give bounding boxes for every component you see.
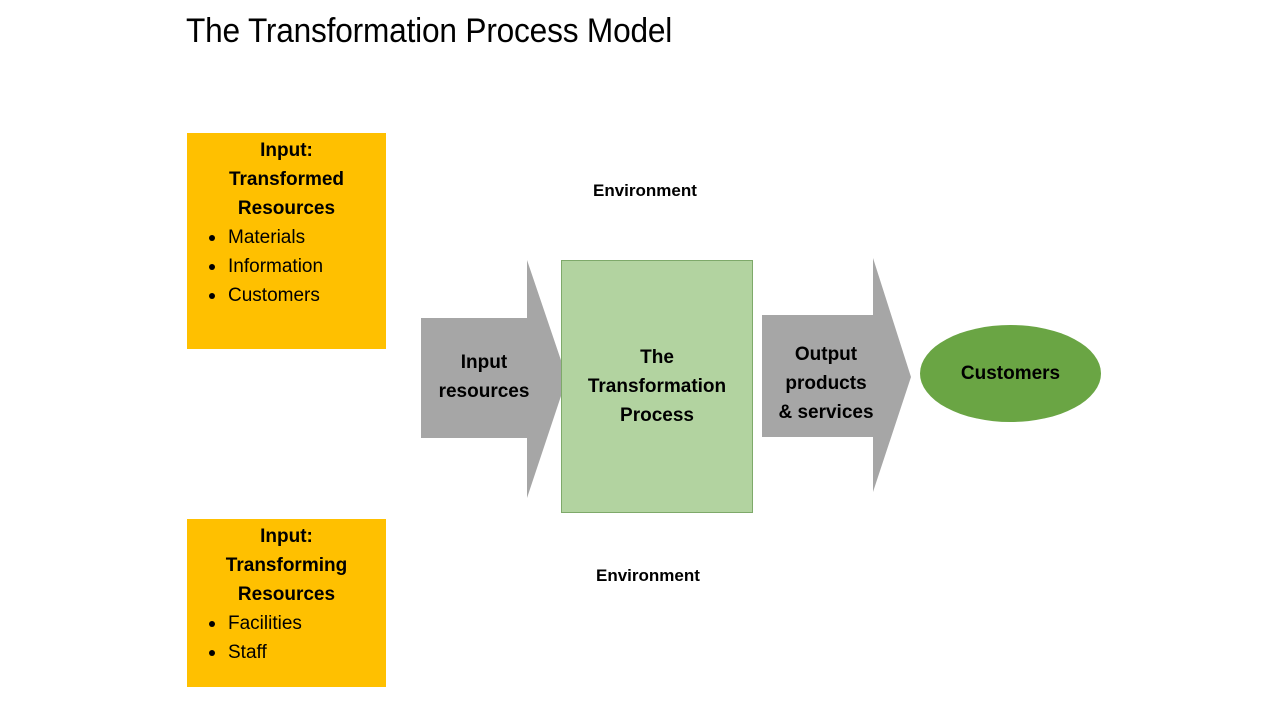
input-box-transforming-list: Facilities Staff: [187, 609, 386, 667]
input-box-transformed-resources: Input: Transformed Resources Materials I…: [187, 133, 386, 349]
customers-ellipse: Customers: [920, 325, 1101, 422]
list-item: Staff: [207, 638, 386, 667]
transformation-process-box: The Transformation Process: [561, 260, 753, 513]
list-item: Facilities: [207, 609, 386, 638]
list-item: Materials: [207, 223, 386, 252]
transformation-process-label: The Transformation Process: [588, 343, 726, 430]
input-box-transformed-list: Materials Information Customers: [187, 223, 386, 310]
page-title: The Transformation Process Model: [186, 8, 672, 54]
list-item: Information: [207, 252, 386, 281]
input-box-transforming-resources: Input: Transforming Resources Facilities…: [187, 519, 386, 687]
output-arrow-label: Output products & services: [764, 340, 888, 427]
list-item: Customers: [207, 281, 386, 310]
input-box-transforming-heading: Input: Transforming Resources: [187, 519, 386, 609]
input-box-transformed-heading: Input: Transformed Resources: [187, 133, 386, 223]
customers-label: Customers: [961, 362, 1060, 386]
input-arrow-label: Input resources: [424, 348, 544, 406]
environment-label-top: Environment: [593, 180, 697, 202]
environment-label-bottom: Environment: [596, 565, 700, 587]
